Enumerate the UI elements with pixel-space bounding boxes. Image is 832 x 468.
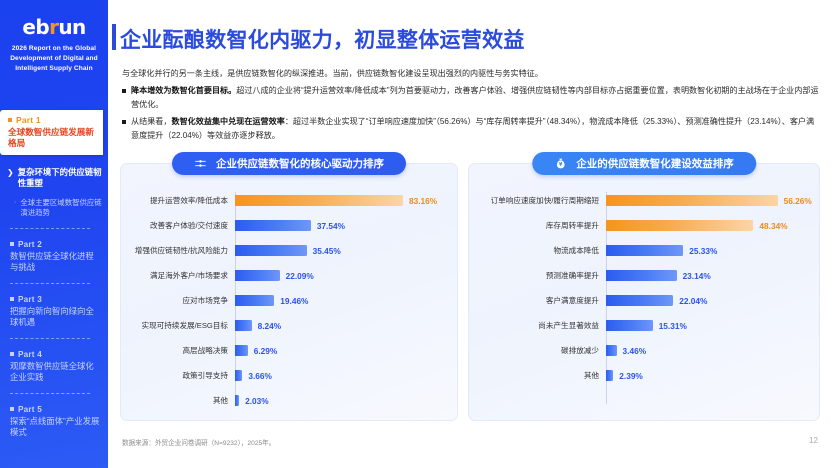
chart-value-label: 2.03% bbox=[245, 396, 269, 406]
chart-bar-wrap: 19.46% bbox=[235, 295, 457, 306]
sidebar-subitem-label: 复杂环境下的供应链韧性重塑 bbox=[18, 167, 102, 189]
chart-value-label: 22.04% bbox=[679, 296, 707, 306]
chart-bar bbox=[235, 320, 252, 331]
chart-category-label: 提升运营效率/降低成本 bbox=[121, 196, 235, 206]
chart-bar-wrap: 3.66% bbox=[235, 370, 457, 381]
nav-divider-3 bbox=[10, 338, 90, 339]
chart-bar-wrap: 3.46% bbox=[606, 345, 819, 356]
bullet-square-icon bbox=[8, 118, 12, 122]
part-5-label: Part 5 bbox=[10, 405, 102, 414]
part-2-label-text: Part 2 bbox=[18, 240, 42, 249]
page-title: 企业酝酿数智化内驱力，初显整体运营效益 bbox=[120, 24, 525, 54]
part-1-label-text: Part 1 bbox=[16, 115, 41, 125]
chart-value-label: 25.33% bbox=[689, 246, 717, 256]
chart-row: 改善客户体验/交付速度37.54% bbox=[121, 213, 457, 238]
chart-bar-wrap: 37.54% bbox=[235, 220, 457, 231]
chart-category-label: 物流成本降低 bbox=[469, 246, 606, 256]
chart-value-label: 56.26% bbox=[784, 196, 812, 206]
bullet-dot-icon: · bbox=[14, 198, 16, 218]
chart-panel-drivers: 企业供应链数智化的核心驱动力排序 提升运营效率/降低成本83.16%改善客户体验… bbox=[120, 163, 458, 421]
bullet-square-icon bbox=[122, 120, 126, 124]
sidebar-item-part-2[interactable]: Part 2 数智供应链全球化进程与挑战 bbox=[10, 240, 102, 273]
nav-divider-4 bbox=[10, 393, 90, 394]
logo-left: eb bbox=[22, 15, 49, 39]
chart-category-label: 改善客户体验/交付速度 bbox=[121, 221, 235, 231]
chart-bar bbox=[235, 370, 242, 381]
money-bag-icon: ¥ bbox=[554, 157, 567, 170]
part-3-title: 把握向新向智向绿向全球机遇 bbox=[10, 306, 102, 328]
chart-value-label: 22.09% bbox=[286, 271, 314, 281]
chart-bar bbox=[606, 195, 778, 206]
chart-row: 高层战略决策6.29% bbox=[121, 338, 457, 363]
chart-value-label: 23.14% bbox=[683, 271, 711, 281]
chart-bar-wrap: 22.09% bbox=[235, 270, 457, 281]
chart-bar-wrap: 83.16% bbox=[235, 195, 457, 206]
part-1-title: 全球数智供应链发展新格局 bbox=[8, 127, 97, 149]
chart-row: 提升运营效率/降低成本83.16% bbox=[121, 188, 457, 213]
chart-right-rows: 订单响应速度加快/履行周期缩短56.26%库存周转率提升48.34%物流成本降低… bbox=[469, 188, 819, 388]
logo-text: ebrun bbox=[0, 17, 108, 37]
chart-bar-wrap: 25.33% bbox=[606, 245, 819, 256]
part-4-title: 观摩数智供应链全球化企业实践 bbox=[10, 361, 102, 383]
sidebar-subsubitem-label: 全球主要区域数智供应链演进趋势 bbox=[20, 198, 104, 218]
bullet-2-text: 从结果看，数智化效益集中兑现在运营效率：超过半数企业实现了“订单响应速度加快”（… bbox=[131, 115, 822, 142]
part-3-label-text: Part 3 bbox=[18, 295, 42, 304]
sidebar-subitem-active[interactable]: ❯ 复杂环境下的供应链韧性重塑 bbox=[7, 167, 102, 189]
chart-bar-wrap: 15.31% bbox=[606, 320, 819, 331]
nav-divider-1 bbox=[10, 228, 90, 229]
title-accent-rule bbox=[112, 24, 116, 50]
chart-category-label: 碳排放减少 bbox=[469, 346, 606, 356]
chart-bar bbox=[606, 245, 683, 256]
chart-value-label: 8.24% bbox=[258, 321, 282, 331]
chart-bar bbox=[606, 320, 653, 331]
source-note: 数据来源：外贸企业问卷调研（N=9232），2025年。 bbox=[122, 437, 275, 447]
bullet-item-1: 降本增效为数智化首要目标。超过八成的企业将“提升运营效率/降低成本”列为首要驱动… bbox=[122, 84, 822, 111]
chart-row: 客户满意度提升22.04% bbox=[469, 288, 819, 313]
part-2-label: Part 2 bbox=[10, 240, 102, 249]
chevron-right-icon: ❯ bbox=[7, 167, 14, 189]
sidebar-subsubitem[interactable]: · 全球主要区域数智供应链演进趋势 bbox=[14, 198, 104, 218]
chart-right-header: ¥ 企业的供应链数智化建设效益排序 bbox=[532, 152, 756, 175]
chart-bar-wrap: 8.24% bbox=[235, 320, 457, 331]
part-4-label-text: Part 4 bbox=[18, 350, 42, 359]
chart-row: 其他2.39% bbox=[469, 363, 819, 388]
sidebar-nav: Part 1 全球数智供应链发展新格局 ❯ 复杂环境下的供应链韧性重塑 · 全球… bbox=[0, 110, 108, 438]
sidebar-item-part-4[interactable]: Part 4 观摩数智供应链全球化企业实践 bbox=[10, 350, 102, 383]
chart-row: 尚未产生显著效益15.31% bbox=[469, 313, 819, 338]
lead-paragraph: 与全球化并行的另一条主线，是供应链数智化的纵深推进。当前，供应链数智化建设呈现出… bbox=[122, 67, 822, 80]
chart-value-label: 3.66% bbox=[248, 371, 272, 381]
bullet-1-text: 降本增效为数智化首要目标。超过八成的企业将“提升运营效率/降低成本”列为首要驱动… bbox=[131, 84, 822, 111]
page-number: 12 bbox=[809, 436, 818, 445]
chart-left-body: 提升运营效率/降低成本83.16%改善客户体验/交付速度37.54%增强供应链韧… bbox=[121, 188, 457, 410]
chart-row: 满足海外客户/市场要求22.09% bbox=[121, 263, 457, 288]
report-subtitle: 2026 Report on the Global Development of… bbox=[6, 44, 102, 74]
chart-category-label: 实现可持续发展/ESG目标 bbox=[121, 321, 235, 331]
chart-bar-wrap: 35.45% bbox=[235, 245, 457, 256]
sidebar-item-part-5[interactable]: Part 5 探索“点线面体”产业发展模式 bbox=[10, 405, 102, 438]
chart-value-label: 35.45% bbox=[313, 246, 341, 256]
chart-category-label: 满足海外客户/市场要求 bbox=[121, 271, 235, 281]
chart-category-label: 政策引导支持 bbox=[121, 371, 235, 381]
chart-left-rows: 提升运营效率/降低成本83.16%改善客户体验/交付速度37.54%增强供应链韧… bbox=[121, 188, 457, 413]
chart-value-label: 48.34% bbox=[759, 221, 787, 231]
chart-value-label: 6.29% bbox=[254, 346, 278, 356]
chart-bar bbox=[235, 270, 280, 281]
chart-value-label: 3.46% bbox=[623, 346, 647, 356]
chart-row: 订单响应速度加快/履行周期缩短56.26% bbox=[469, 188, 819, 213]
sidebar-item-part-1[interactable]: Part 1 全球数智供应链发展新格局 bbox=[0, 110, 103, 155]
main-content: 企业酝酿数智化内驱力，初显整体运营效益 与全球化并行的另一条主线，是供应链数智化… bbox=[108, 0, 832, 468]
bullet-2-strong: 数智化效益集中兑现在运营效率 bbox=[171, 117, 284, 126]
chart-bar bbox=[606, 345, 617, 356]
chart-bar bbox=[606, 295, 673, 306]
chart-category-label: 尚未产生显著效益 bbox=[469, 321, 606, 331]
sidebar: ebrun 2026 Report on the Global Developm… bbox=[0, 0, 108, 468]
chart-value-label: 83.16% bbox=[409, 196, 437, 206]
bullet-2-prefix: 从结果看， bbox=[131, 117, 171, 126]
chart-bar bbox=[235, 295, 274, 306]
chart-row: 库存周转率提升48.34% bbox=[469, 213, 819, 238]
bullet-square-icon bbox=[10, 352, 14, 356]
chart-bar-wrap: 22.04% bbox=[606, 295, 819, 306]
chart-right-title: 企业的供应链数智化建设效益排序 bbox=[576, 156, 734, 171]
chart-category-label: 其他 bbox=[469, 371, 606, 381]
part-4-label: Part 4 bbox=[10, 350, 102, 359]
chart-bar-wrap: 56.26% bbox=[606, 195, 819, 206]
chart-bar bbox=[606, 220, 753, 231]
chart-right-body: 订单响应速度加快/履行周期缩短56.26%库存周转率提升48.34%物流成本降低… bbox=[469, 188, 819, 410]
chart-value-label: 2.39% bbox=[619, 371, 643, 381]
chart-panel-benefits: ¥ 企业的供应链数智化建设效益排序 订单响应速度加快/履行周期缩短56.26%库… bbox=[468, 163, 820, 421]
chart-bar-wrap: 2.39% bbox=[606, 370, 819, 381]
chart-bar bbox=[235, 195, 403, 206]
chart-row: 预测准确率提升23.14% bbox=[469, 263, 819, 288]
chart-bar-wrap: 48.34% bbox=[606, 220, 819, 231]
chart-row: 物流成本降低25.33% bbox=[469, 238, 819, 263]
bullet-item-2: 从结果看，数智化效益集中兑现在运营效率：超过半数企业实现了“订单响应速度加快”（… bbox=[122, 115, 822, 142]
chart-value-label: 37.54% bbox=[317, 221, 345, 231]
chart-category-label: 高层战略决策 bbox=[121, 346, 235, 356]
part-1-label: Part 1 bbox=[8, 115, 97, 125]
chart-category-label: 订单响应速度加快/履行周期缩短 bbox=[469, 196, 606, 206]
chart-left-header: 企业供应链数智化的核心驱动力排序 bbox=[172, 152, 406, 175]
chart-category-label: 预测准确率提升 bbox=[469, 271, 606, 281]
bullet-1-strong: 降本增效为数智化首要目标。 bbox=[131, 86, 236, 95]
sidebar-item-part-3[interactable]: Part 3 把握向新向智向绿向全球机遇 bbox=[10, 295, 102, 328]
chart-row: 应对市场竞争19.46% bbox=[121, 288, 457, 313]
bullet-square-icon bbox=[10, 242, 14, 246]
chart-bar bbox=[235, 220, 311, 231]
chart-row: 实现可持续发展/ESG目标8.24% bbox=[121, 313, 457, 338]
part-2-title: 数智供应链全球化进程与挑战 bbox=[10, 251, 102, 273]
chart-category-label: 库存周转率提升 bbox=[469, 221, 606, 231]
brand-logo: ebrun 2026 Report on the Global Developm… bbox=[0, 17, 108, 74]
chart-value-label: 15.31% bbox=[659, 321, 687, 331]
part-5-label-text: Part 5 bbox=[18, 405, 42, 414]
logo-accent: r bbox=[49, 15, 58, 39]
chart-value-label: 19.46% bbox=[280, 296, 308, 306]
chart-category-label: 增强供应链韧性/抗风险能力 bbox=[121, 246, 235, 256]
chart-bar bbox=[235, 245, 307, 256]
chart-bar-wrap: 6.29% bbox=[235, 345, 457, 356]
chart-bar-wrap: 23.14% bbox=[606, 270, 819, 281]
chart-category-label: 其他 bbox=[121, 396, 235, 406]
chart-bar bbox=[606, 270, 677, 281]
chart-bar-wrap: 2.03% bbox=[235, 395, 457, 406]
part-5-title: 探索“点线面体”产业发展模式 bbox=[10, 416, 102, 438]
body-text-block: 与全球化并行的另一条主线，是供应链数智化的纵深推进。当前，供应链数智化建设呈现出… bbox=[122, 67, 822, 142]
chart-row: 其他2.03% bbox=[121, 388, 457, 413]
slide-root: ebrun 2026 Report on the Global Developm… bbox=[0, 0, 832, 468]
nav-divider-2 bbox=[10, 283, 90, 284]
chart-bar bbox=[235, 395, 239, 406]
chart-row: 增强供应链韧性/抗风险能力35.45% bbox=[121, 238, 457, 263]
network-nodes-icon bbox=[194, 157, 207, 170]
bullet-square-icon bbox=[10, 297, 14, 301]
chart-row: 碳排放减少3.46% bbox=[469, 338, 819, 363]
chart-bar bbox=[606, 370, 613, 381]
chart-left-title: 企业供应链数智化的核心驱动力排序 bbox=[216, 156, 384, 171]
bullet-square-icon bbox=[122, 89, 126, 93]
logo-right: un bbox=[58, 15, 85, 39]
chart-category-label: 应对市场竞争 bbox=[121, 296, 235, 306]
chart-category-label: 客户满意度提升 bbox=[469, 296, 606, 306]
part-3-label: Part 3 bbox=[10, 295, 102, 304]
bullet-square-icon bbox=[10, 407, 14, 411]
chart-bar bbox=[235, 345, 248, 356]
chart-row: 政策引导支持3.66% bbox=[121, 363, 457, 388]
